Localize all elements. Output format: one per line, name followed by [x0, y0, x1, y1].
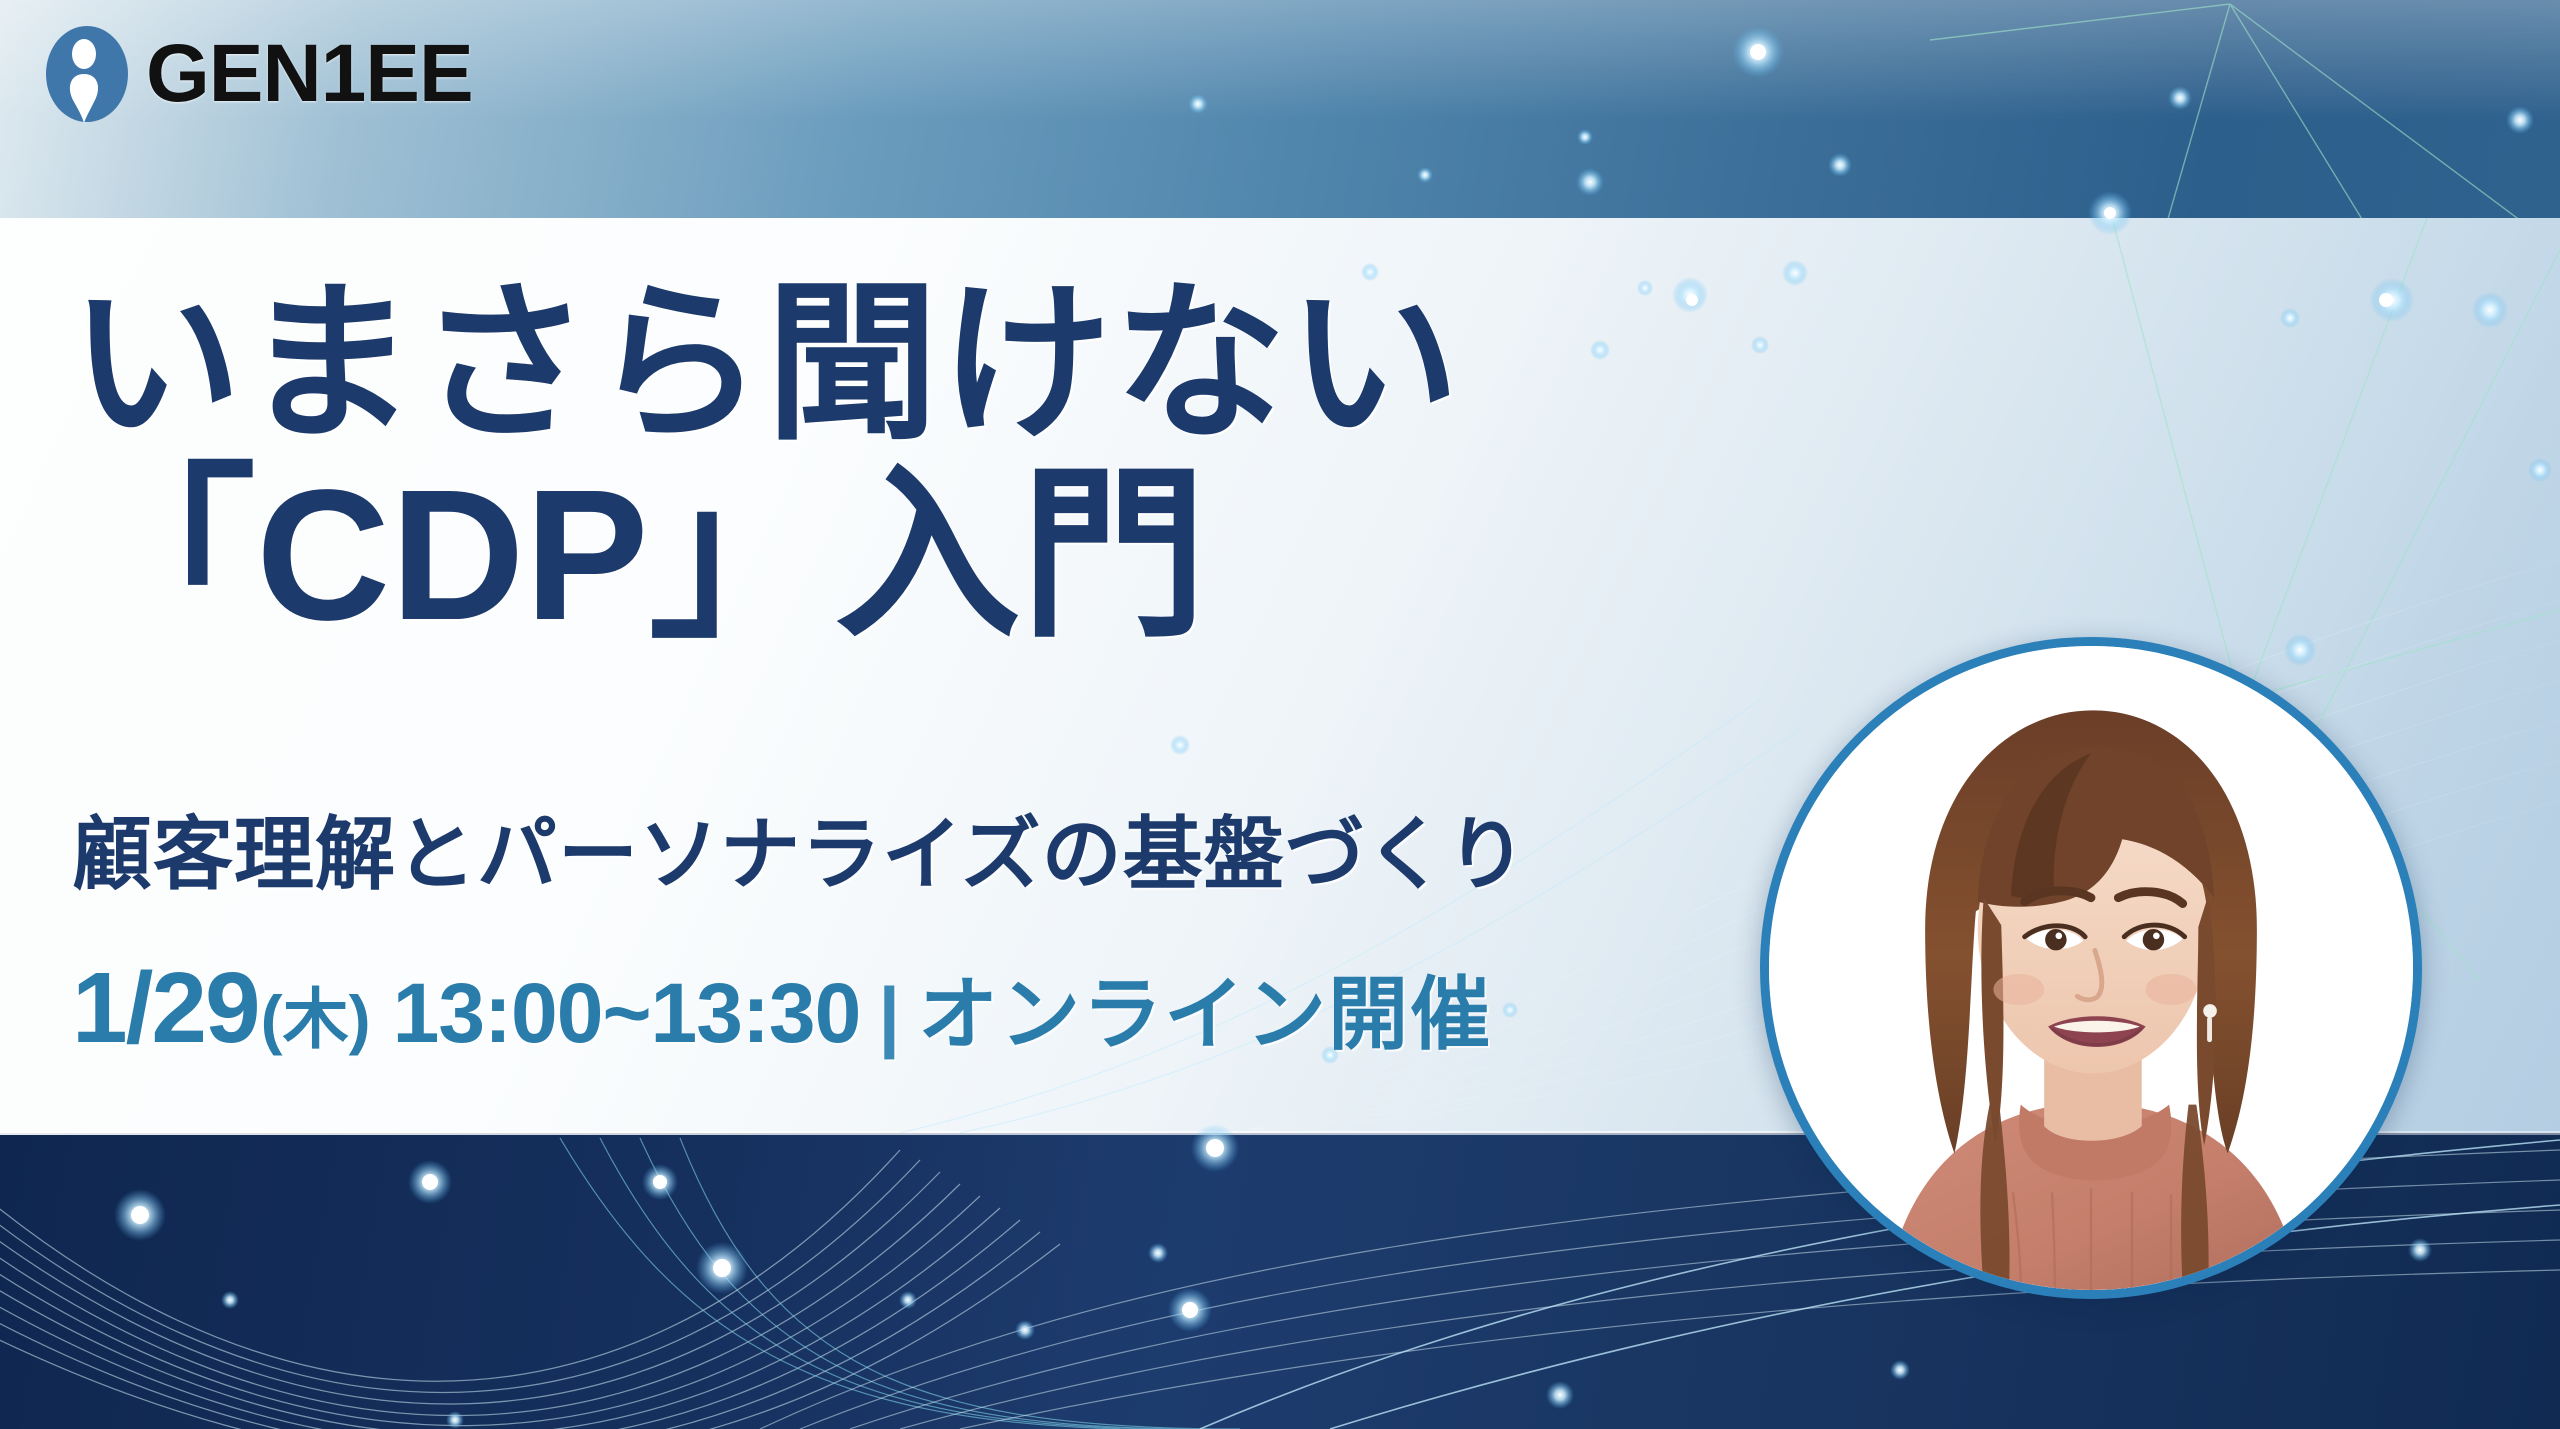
- event-time: 13:00~13:30: [393, 965, 861, 1062]
- geniee-figure-mark-icon: [44, 24, 130, 124]
- headline-line-1: いまさら聞けない: [70, 282, 1770, 447]
- headline-line-2: 「CDP」入門: [70, 467, 1770, 646]
- event-date: 1/29: [72, 951, 259, 1066]
- event-details: 1/29 (木) 13:00~13:30 | オンライン開催: [72, 950, 1492, 1066]
- webinar-banner: GEN1EE いまさら聞けない 「CDP」入門 顧客理解とパーソナライズの基盤づ…: [0, 0, 2560, 1429]
- brand-logo-text: GEN1EE: [146, 33, 473, 115]
- event-day-of-week: (木): [261, 966, 371, 1062]
- speaker-portrait: [1760, 637, 2422, 1299]
- brand-logo: GEN1EE: [44, 24, 473, 124]
- event-format: オンライン開催: [918, 950, 1492, 1066]
- headline-block: いまさら聞けない 「CDP」入門: [70, 282, 1770, 646]
- subtitle-text: 顧客理解とパーソナライズの基盤づくり: [72, 790, 1528, 906]
- event-separator: |: [878, 970, 900, 1061]
